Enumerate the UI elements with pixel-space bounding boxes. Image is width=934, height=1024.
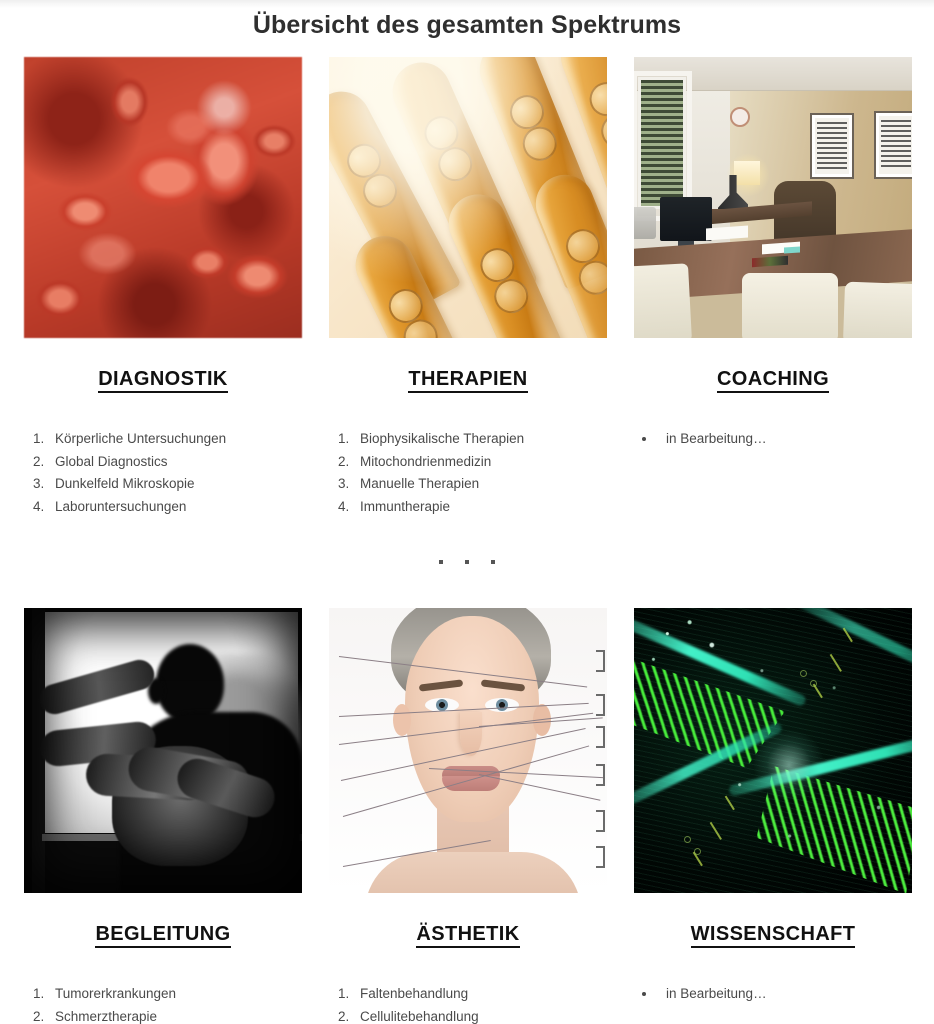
list-item: Dunkelfeld Mikroskopie (48, 473, 302, 496)
facial-treatment-zones-diagram-photo[interactable] (329, 608, 607, 893)
separator-dot (465, 560, 469, 564)
photo-haze-overlay (329, 57, 607, 338)
framed-chart-left (810, 113, 854, 179)
card-begleitung[interactable]: BEGLEITUNG Tumorerkrankungen Schmerzther… (24, 608, 302, 1024)
list-item: Laboruntersuchungen (48, 496, 302, 519)
reaching-hand-silhouette-photo[interactable] (24, 608, 302, 893)
separator-dot (439, 560, 443, 564)
list-item: Global Diagnostics (48, 451, 302, 474)
card-list-diagnostik: Körperliche Untersuchungen Global Diagno… (24, 428, 302, 518)
green-dna-helix-photo[interactable] (634, 608, 912, 893)
card-heading-aesthetik: ÄSTHETIK (329, 923, 607, 946)
card-list-coaching: in Bearbeitung… (634, 428, 912, 451)
card-aesthetik[interactable]: ÄSTHETIK Faltenbehandlung Cellulitebehan… (329, 608, 607, 1024)
white-chair (742, 273, 838, 338)
card-heading-therapien: THERAPIEN (329, 368, 607, 391)
card-list-wissenschaft: in Bearbeitung… (634, 983, 912, 1006)
dna-code-marks (634, 608, 912, 893)
list-item: Mitochondrienmedizin (353, 451, 607, 474)
card-row-bottom: BEGLEITUNG Tumorerkrankungen Schmerzther… (0, 608, 934, 1024)
page-root: Übersicht des gesamten Spektrums DIAGNOS… (0, 0, 934, 1024)
card-list-therapien: Biophysikalische Therapien Mitochondrien… (329, 428, 607, 518)
card-diagnostik[interactable]: DIAGNOSTIK Körperliche Untersuchungen Gl… (24, 57, 302, 518)
card-coaching[interactable]: COACHING in Bearbeitung… (634, 57, 912, 518)
card-therapien[interactable]: THERAPIEN Biophysikalische Therapien Mit… (329, 57, 607, 518)
list-item: Faltenbehandlung (353, 983, 607, 1006)
page-title: Übersicht des gesamten Spektrums (0, 8, 934, 42)
computer-monitor (660, 197, 712, 241)
annotation-leader-lines (329, 608, 607, 893)
desk-teal-item (784, 246, 800, 253)
card-list-begleitung: Tumorerkrankungen Schmerztherapie (24, 983, 302, 1024)
card-wissenschaft[interactable]: WISSENSCHAFT in Bearbeitung… (634, 608, 912, 1024)
separator-dot (491, 560, 495, 564)
list-item: Schmerztherapie (48, 1006, 302, 1024)
list-item: in Bearbeitung… (657, 983, 912, 1006)
card-list-aesthetik: Faltenbehandlung Cellulitebehandlung (329, 983, 607, 1024)
card-heading-begleitung: BEGLEITUNG (24, 923, 302, 946)
list-item: Manuelle Therapien (353, 473, 607, 496)
card-heading-label: ÄSTHETIK (416, 923, 519, 948)
wall-clock-icon (730, 107, 750, 127)
section-dot-separator (0, 555, 934, 569)
white-chair (843, 282, 912, 338)
list-item: Immuntherapie (353, 496, 607, 519)
list-item: Tumorerkrankungen (48, 983, 302, 1006)
framed-chart-right (874, 111, 912, 179)
card-heading-label: THERAPIEN (408, 368, 527, 393)
card-heading-wissenschaft: WISSENSCHAFT (634, 923, 912, 946)
medical-office-consultation-room-photo[interactable] (634, 57, 912, 338)
card-heading-label: COACHING (717, 368, 829, 393)
card-row-top: DIAGNOSTIK Körperliche Untersuchungen Gl… (0, 57, 934, 518)
card-heading-label: BEGLEITUNG (95, 923, 230, 948)
list-item: Körperliche Untersuchungen (48, 428, 302, 451)
measurement-brackets (591, 618, 605, 883)
office-jar (634, 207, 656, 239)
red-blood-cells-photo[interactable] (24, 57, 302, 338)
card-heading-label: DIAGNOSTIK (98, 368, 228, 393)
list-item: Cellulitebehandlung (353, 1006, 607, 1024)
desk-lamp-shade (734, 161, 760, 185)
list-item: in Bearbeitung… (657, 428, 912, 451)
card-heading-coaching: COACHING (634, 368, 912, 391)
white-chair (634, 263, 692, 338)
list-item: Biophysikalische Therapien (353, 428, 607, 451)
top-gradient-strip (0, 0, 934, 8)
photo-vignette (24, 608, 302, 893)
amber-glass-ampoules-photo[interactable] (329, 57, 607, 338)
card-heading-diagnostik: DIAGNOSTIK (24, 368, 302, 391)
card-heading-label: WISSENSCHAFT (691, 923, 856, 948)
